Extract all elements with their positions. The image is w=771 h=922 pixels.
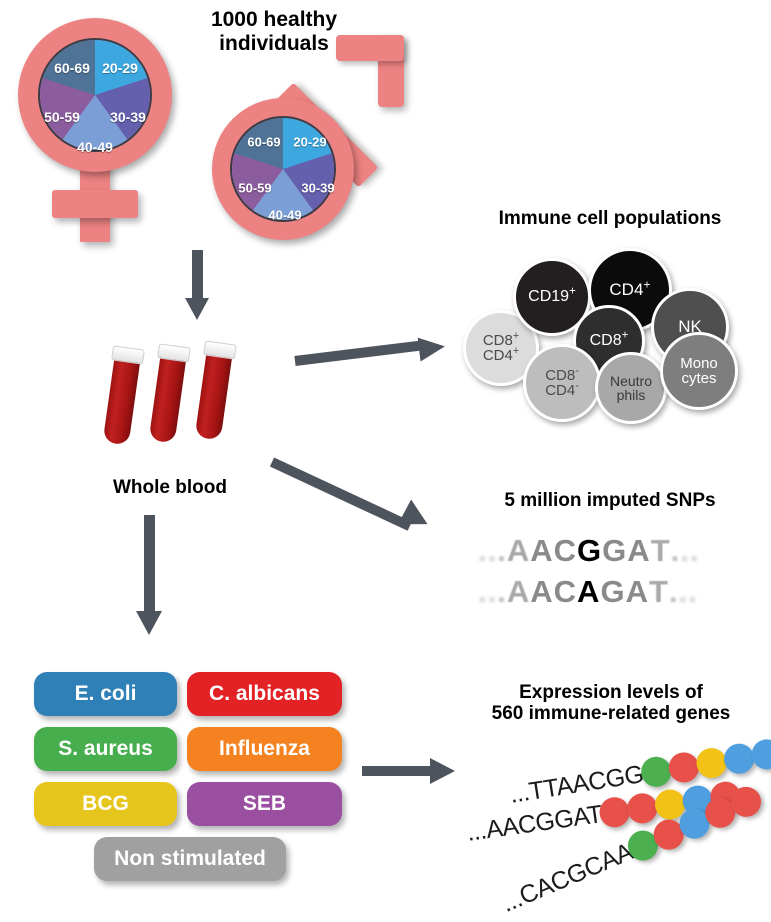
pie-slice-60-69: [232, 118, 334, 220]
strand-sequence: ...CACGCAA: [497, 837, 637, 918]
female-symbol: 20-29 30-39 40-49 50-59 60-69: [10, 12, 190, 242]
stimulus-non-stimulated[interactable]: Non stimulated: [94, 837, 286, 881]
immune-cell-label: Neutro phils: [610, 374, 652, 403]
stimulus-influenza[interactable]: Influenza: [187, 727, 342, 771]
snp-sequence-bottom: ...AACAGAT...: [478, 574, 698, 610]
female-symbol-crossbar: [52, 190, 138, 218]
female-pie-label-50-59: 50-59: [44, 109, 80, 125]
immune-cell-cluster: CD8+ CD4+ CD19+ CD4+ NK CD8+ CD8- CD4- N…: [455, 240, 765, 430]
snp-sequences: ...AACGGAT... ...AACAGAT...: [478, 533, 758, 623]
snps-title: 5 million imputed SNPs: [450, 490, 770, 511]
immune-cell-label: CD8+: [590, 333, 629, 349]
snp-sequence-top: ...AACGGAT...: [478, 533, 700, 569]
male-pie-label-20-29: 20-29: [293, 135, 326, 150]
arrow-head: [398, 500, 434, 537]
expression-title-line2: 560 immune-related genes: [455, 703, 767, 724]
arrow-cohort-to-blood: [183, 250, 213, 320]
immune-cell-cd8neg-cd4neg: CD8- CD4-: [523, 344, 601, 422]
immune-cell-neutrophils: Neutro phils: [595, 352, 667, 424]
expression-title-line1: Expression levels of: [455, 682, 767, 703]
stimulus-bcg[interactable]: BCG: [34, 782, 177, 826]
arrow-head: [185, 298, 209, 320]
arrow-blood-to-stimuli: [132, 515, 172, 645]
blood-tube-2: [148, 344, 194, 447]
stimulus-s-aureus[interactable]: S. aureus: [34, 727, 177, 771]
arrow-blood-to-snps: [272, 445, 462, 550]
expression-bead: [694, 746, 728, 780]
snp-variant-top: G: [577, 533, 602, 569]
arrow-shaft: [192, 250, 203, 302]
expression-bead: [749, 737, 771, 771]
stimuli-panel: E. coli C. albicans S. aureus Influenza …: [32, 672, 342, 897]
immune-cell-monocytes: Mono cytes: [660, 332, 738, 410]
immune-cell-label: CD4+: [609, 281, 650, 298]
expression-bead: [722, 742, 756, 776]
pie-slice-60-69: [40, 40, 150, 150]
blood-tube-1: [102, 346, 148, 449]
blood-tube-body: [195, 350, 233, 441]
immune-cell-label: CD8+ CD4+: [483, 333, 519, 364]
stimulus-seb[interactable]: SEB: [187, 782, 342, 826]
arrow-head: [430, 758, 455, 784]
male-symbol-arrowhead-horizontal: [336, 35, 404, 61]
whole-blood-label: Whole blood: [80, 477, 260, 498]
female-age-pie: [38, 38, 152, 152]
arrow-head: [136, 611, 162, 635]
whole-blood-group: [110, 340, 270, 490]
immune-populations-title: Immune cell populations: [455, 208, 765, 229]
arrow-shaft: [144, 515, 155, 615]
expression-bead: [626, 791, 660, 825]
arrow-shaft: [294, 340, 426, 366]
expression-bead: [667, 750, 701, 784]
male-pie-label-60-69: 60-69: [247, 135, 280, 150]
female-pie-label-30-39: 30-39: [110, 109, 146, 125]
arrow-shaft: [270, 457, 412, 530]
arrow-head: [418, 335, 447, 362]
arrow-blood-to-immune-cells: [295, 330, 460, 380]
immune-cell-label: Mono cytes: [680, 356, 718, 387]
female-pie-label-20-29: 20-29: [102, 60, 138, 76]
stimulus-c-albicans[interactable]: C. albicans: [187, 672, 342, 716]
male-symbol: 20-29 30-39 40-49 50-59 60-69: [200, 25, 415, 240]
stimulus-e-coli[interactable]: E. coli: [34, 672, 177, 716]
blood-tube-body: [103, 355, 141, 446]
immune-cell-label: CD19+: [528, 289, 576, 305]
blood-tube-3: [194, 341, 240, 444]
expression-strands: ...TTAACGG ...AACGGAT ...CACGCAA: [455, 740, 771, 920]
male-age-pie: [230, 116, 336, 222]
expression-title: Expression levels of 560 immune-related …: [455, 682, 767, 725]
male-pie-label-40-49: 40-49: [268, 208, 301, 223]
immune-cell-label: CD8- CD4-: [545, 368, 579, 399]
male-pie-label-50-59: 50-59: [238, 181, 271, 196]
female-pie-label-40-49: 40-49: [77, 139, 113, 155]
female-pie-label-60-69: 60-69: [54, 60, 90, 76]
arrow-shaft: [362, 766, 432, 776]
snp-variant-bottom: A: [577, 574, 600, 610]
strand-sequence: ...AACGGAT: [465, 800, 604, 848]
blood-tube-body: [149, 353, 187, 444]
male-pie-label-30-39: 30-39: [301, 181, 334, 196]
